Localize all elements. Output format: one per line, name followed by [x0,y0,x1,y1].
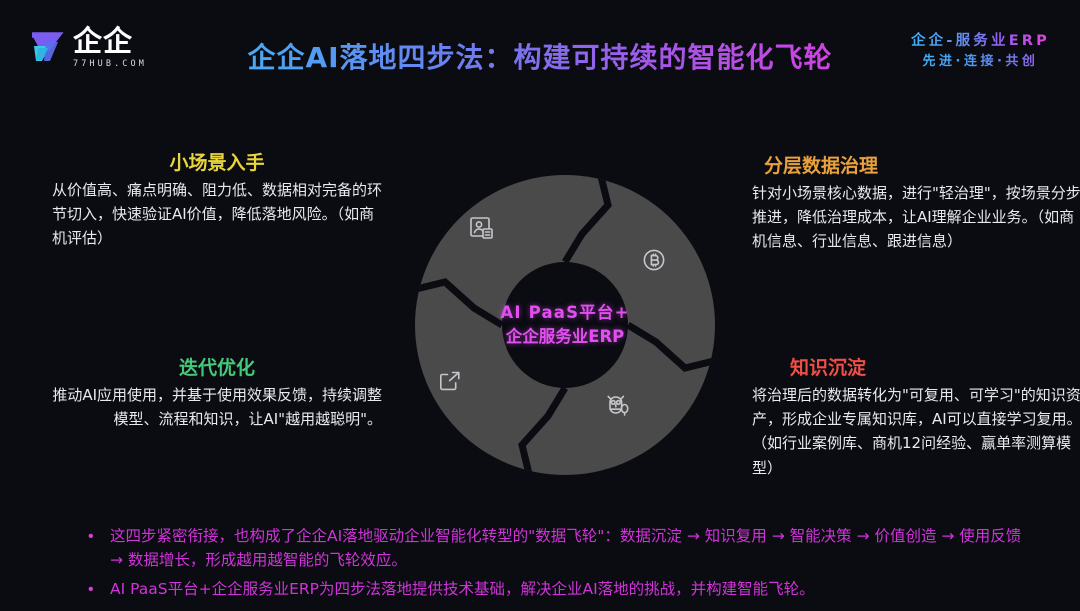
brand-tagline-line2: 先进·连接·共创 [911,52,1050,72]
quadrant-body-small-scenario: 从价值高、痛点明确、阻力低、数据相对完备的环节切入，快速验证AI价值，降低落地风… [52,178,382,251]
quadrant-bottom-right: 知识沉淀 将治理后的数据转化为"可复用、可学习"的知识资产，形成企业专属知识库，… [752,357,1080,480]
quadrant-body-iterative-optimization: 推动AI应用使用，并基于使用效果反馈，持续调整模型、流程和知识，让AI"越用越聪… [52,383,382,432]
bullet-text-flywheel: 这四步紧密衔接，也构成了企企AI落地驱动企业智能化转型的"数据飞轮"：数据沉淀 … [110,524,1034,573]
slide-root: 企企 77HUB.COM 企企AI落地四步法：构建可持续的智能化飞轮 企企-服务… [0,0,1080,611]
flywheel-diagram: AI PaaS平台+ 企企服务业ERP [400,160,730,490]
bullet-item: • AI PaaS平台+企企服务业ERP为四步法落地提供技术基础，解决企业AI落… [84,577,1034,602]
quadrant-title-knowledge-precipitation: 知识沉淀 [752,357,1080,380]
quadrant-body-knowledge-precipitation: 将治理后的数据转化为"可复用、可学习"的知识资产，形成企业专属知识库，AI可以直… [752,383,1080,480]
bullet-marker-icon: • [84,577,110,602]
quadrant-title-data-governance: 分层数据治理 [752,155,1080,178]
bullet-text-platform: AI PaaS平台+企企服务业ERP为四步法落地提供技术基础，解决企业AI落地的… [110,577,1034,601]
bullet-item: • 这四步紧密衔接，也构成了企企AI落地驱动企业智能化转型的"数据飞轮"：数据沉… [84,524,1034,573]
quadrant-top-left: 小场景入手 从价值高、痛点明确、阻力低、数据相对完备的环节切入，快速验证AI价值… [52,152,382,251]
footer-bullets: • 这四步紧密衔接，也构成了企企AI落地驱动企业智能化转型的"数据飞轮"：数据沉… [84,524,1034,606]
quadrant-title-iterative-optimization: 迭代优化 [52,357,382,380]
brand-tagline: 企企-服务业ERP 先进·连接·共创 [911,30,1050,73]
brand-tagline-line1: 企企-服务业ERP [911,30,1050,52]
quadrant-top-right: 分层数据治理 针对小场景核心数据，进行"轻治理"，按场景分步推进，降低治理成本，… [752,155,1080,254]
quadrant-body-data-governance: 针对小场景核心数据，进行"轻治理"，按场景分步推进，降低治理成本，让AI理解企业… [752,181,1080,254]
bullet-marker-icon: • [84,524,110,549]
quadrant-title-small-scenario: 小场景入手 [52,152,382,175]
quadrant-bottom-left: 迭代优化 推动AI应用使用，并基于使用效果反馈，持续调整模型、流程和知识，让AI… [52,357,382,431]
